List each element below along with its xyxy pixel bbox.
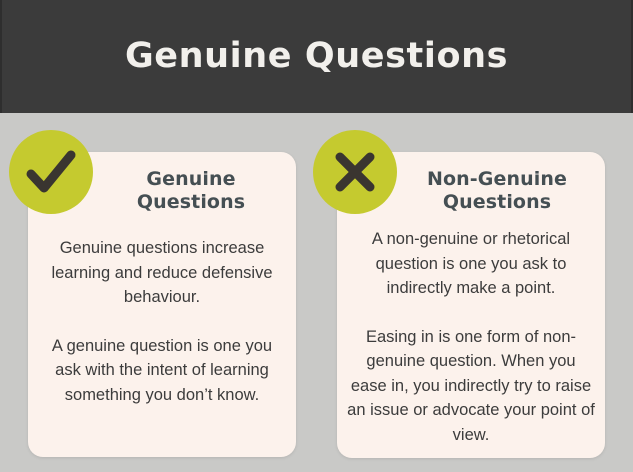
badge-non-genuine — [313, 130, 397, 214]
card-genuine-heading-line2: Questions — [137, 191, 245, 213]
card-non-genuine-heading: Non-Genuine Questions — [399, 168, 595, 214]
slide-canvas: Genuine Questions Genuine Questions Genu… — [0, 0, 633, 472]
card-non-genuine-paragraph-2: Easing in is one form of non-genuine que… — [347, 325, 595, 448]
page-title: Genuine Questions — [125, 39, 508, 74]
card-non-genuine-heading-line1: Non-Genuine — [427, 168, 567, 190]
card-genuine-heading-line1: Genuine — [146, 168, 235, 190]
badge-genuine — [9, 130, 93, 214]
card-non-genuine-paragraph-1: A non-genuine or rhetorical question is … — [347, 227, 595, 301]
header-banner: Genuine Questions — [0, 0, 633, 113]
card-genuine-heading: Genuine Questions — [98, 168, 284, 214]
card-non-genuine-heading-line2: Questions — [443, 191, 551, 213]
cross-icon — [333, 150, 377, 194]
check-icon — [25, 149, 77, 195]
card-genuine-paragraph-2: A genuine question is one you ask with t… — [38, 334, 286, 408]
card-genuine-body: Genuine questions increase learning and … — [38, 236, 286, 407]
card-genuine-paragraph-1: Genuine questions increase learning and … — [38, 236, 286, 310]
card-non-genuine-body: A non-genuine or rhetorical question is … — [347, 227, 595, 447]
